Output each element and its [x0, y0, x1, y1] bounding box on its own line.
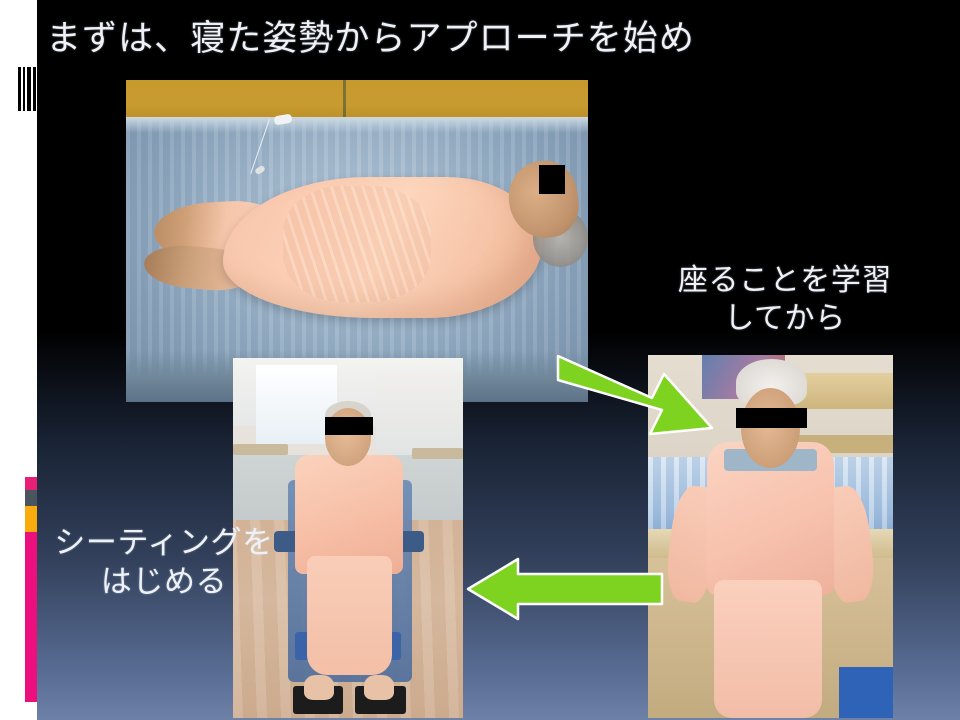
- patient-foot-right: [364, 675, 394, 700]
- page-title: まずは、寝た姿勢からアプローチを始め: [46, 18, 695, 62]
- privacy-eye-bar: [325, 417, 373, 435]
- arrow-down-right-icon: [556, 352, 714, 440]
- caption-start-seating: シーティングを はじめる: [34, 524, 294, 602]
- patient-head: [741, 388, 800, 468]
- slide-canvas: まずは、寝た姿勢からアプローチを始め 座ることを学習 してから シーティングを …: [0, 0, 960, 720]
- photo-lying-in-bed: [126, 80, 588, 402]
- tatami-floor: [126, 80, 588, 122]
- patient-legs: [714, 580, 822, 718]
- handrail-right: [412, 448, 463, 459]
- privacy-eye-bar: [736, 408, 807, 428]
- patient-legs: [307, 556, 392, 675]
- caption-learn-to-sit: 座ることを学習 してから: [650, 262, 920, 337]
- mattress-top-edge: [126, 117, 588, 133]
- color-bar-segment-dark-gray: [25, 490, 37, 506]
- patient-foot-left: [304, 675, 334, 700]
- color-bar-segment-pink: [25, 477, 37, 490]
- privacy-eye-bar: [539, 165, 564, 194]
- barcode-ornament: [18, 67, 40, 111]
- blue-chair-corner: [839, 667, 893, 718]
- arrow-left-icon: [466, 555, 664, 623]
- pajama-folds: [283, 186, 431, 302]
- handrail-left: [233, 444, 288, 455]
